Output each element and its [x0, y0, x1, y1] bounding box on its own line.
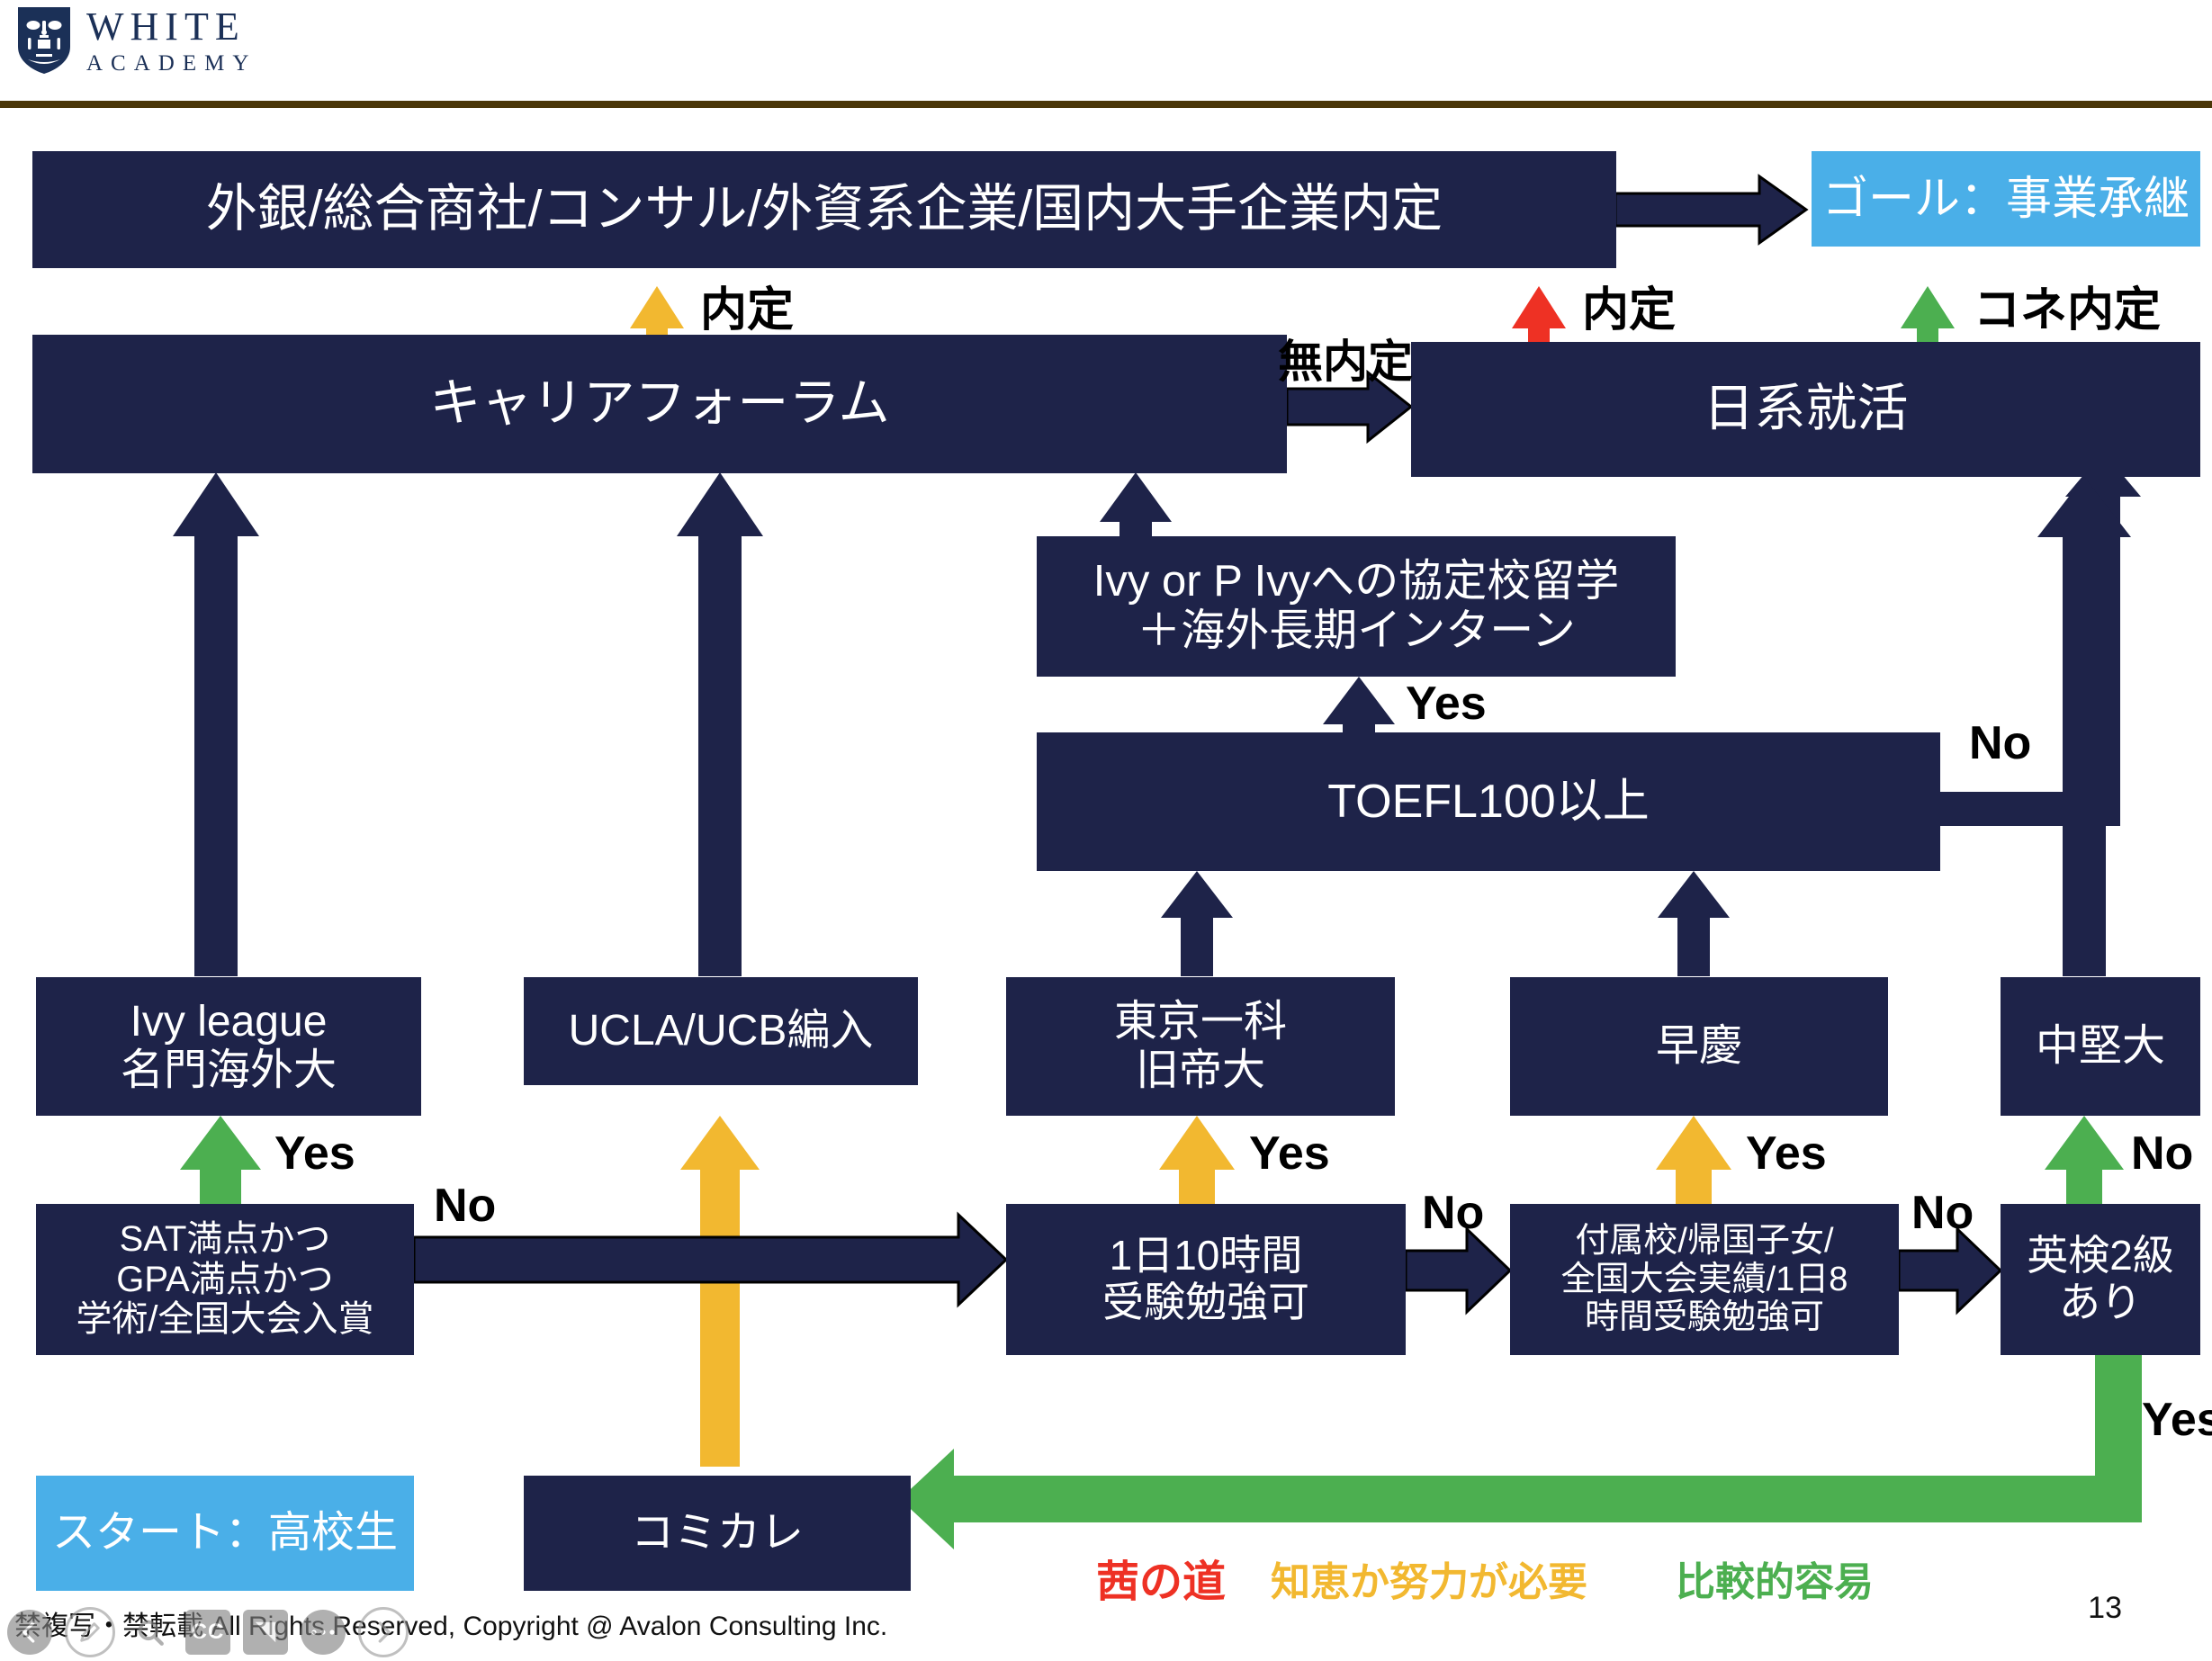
magnifier-icon[interactable] — [128, 1610, 173, 1655]
node-soukei-label: 早慶 — [1650, 1022, 1748, 1071]
node-career-forum[interactable]: キャリアフォーラム — [32, 335, 1287, 473]
node-eiken-label: 英検2級 あり — [2021, 1233, 2180, 1325]
node-sat-label: SAT満点かつ GPA満点かつ 学術/全国大会入賞 — [70, 1219, 379, 1340]
arrow-todai-to-toefl — [1161, 871, 1233, 976]
forward-arrow-icon[interactable] — [358, 1607, 409, 1657]
edge-label-kone-naitei: コネ内定 — [1974, 272, 2161, 339]
node-ucla[interactable]: UCLA/UCB編入 — [524, 977, 918, 1085]
arrow-komikare-to-ucla — [680, 1116, 760, 1467]
edge-label-yes-fuzoku: Yes — [1746, 1127, 1827, 1181]
more-options-icon[interactable] — [301, 1610, 346, 1655]
node-ivy-exchange[interactable]: Ivy or P Ivyへの協定校留学 ＋海外長期インターン — [1037, 536, 1676, 677]
edge-label-yes-eiken: Yes — [2142, 1393, 2212, 1447]
node-komikare[interactable]: コミカレ — [524, 1476, 911, 1591]
edge-label-yes-study10: Yes — [1249, 1127, 1330, 1181]
edge-label-no-fuzoku: No — [1911, 1186, 1974, 1240]
node-career-forum-label: キャリアフォーラム — [424, 375, 895, 433]
node-ivy-exchange-label: Ivy or P Ivyへの協定校留学 ＋海外長期インターン — [1088, 557, 1624, 656]
back-arrow-icon[interactable] — [7, 1610, 52, 1655]
edge-label-no-toefl: No — [1969, 716, 2031, 770]
arrow-nikkei-to-goal — [1901, 286, 1955, 349]
legend-item-easy: 比較的容易 — [1676, 1549, 1874, 1607]
node-offer-top[interactable]: 外銀/総合商社/コンサル/外資系企業/国内大手企業内定 — [32, 151, 1616, 268]
node-sat[interactable]: SAT満点かつ GPA満点かつ 学術/全国大会入賞 — [36, 1204, 414, 1355]
node-todai[interactable]: 東京一科 旧帝大 — [1006, 977, 1395, 1116]
node-toefl[interactable]: TOEFL100以上 — [1037, 732, 1940, 871]
arrow-ivyleague-to-careerforum — [173, 472, 259, 976]
edge-label-naitei-red: 内定 — [1582, 272, 1676, 339]
arrow-ucla-to-careerforum — [677, 472, 763, 976]
arrow-ivyexchange-to-careerforum — [1100, 472, 1172, 540]
node-soukei[interactable]: 早慶 — [1510, 977, 1888, 1116]
arrow-soukei-to-toefl — [1658, 871, 1730, 976]
node-ucla-label: UCLA/UCB編入 — [563, 1007, 879, 1055]
arrow-sat-to-ivyleague — [180, 1116, 261, 1210]
node-chuken-label: 中堅大 — [2030, 1022, 2171, 1071]
edge-label-no-eiken: No — [2131, 1127, 2193, 1181]
node-nikkei-label: 日系就活 — [1698, 381, 1914, 438]
node-study10[interactable]: 1日10時間 受験勉強可 — [1006, 1204, 1406, 1355]
arrow-study10-no-to-fuzoku — [1406, 1229, 1510, 1312]
node-nikkei-shukatsu[interactable]: 日系就活 — [1411, 342, 2200, 477]
node-study10-label: 1日10時間 受験勉強可 — [1097, 1233, 1315, 1325]
node-ivy-league-label: Ivy league 名門海外大 — [115, 998, 342, 1095]
player-controls[interactable]: CC — [7, 1607, 409, 1657]
node-start[interactable]: スタート：高校生 — [36, 1476, 414, 1591]
arrow-fuzoku-to-soukei — [1656, 1116, 1731, 1210]
edge-label-munaitei: 無内定 — [1278, 326, 1413, 391]
node-goal-label: ゴール：事業承継 — [1817, 173, 2195, 224]
node-fuzoku-label: 付属校/帰国子女/ 全国大会実績/1日8 時間受験勉強可 — [1556, 1222, 1854, 1337]
cc-label: CC — [192, 1620, 225, 1645]
pen-icon[interactable] — [65, 1607, 115, 1657]
arrow-eiken-yes-to-komikare — [900, 1350, 2142, 1549]
node-fuzoku[interactable]: 付属校/帰国子女/ 全国大会実績/1日8 時間受験勉強可 — [1510, 1204, 1899, 1355]
page-number: 13 — [2088, 1591, 2122, 1626]
edge-label-no-sat: No — [434, 1179, 496, 1233]
node-komikare-label: コミカレ — [625, 1509, 809, 1558]
node-offer-top-label: 外銀/総合商社/コンサル/外資系企業/国内大手企業内定 — [201, 181, 1448, 238]
node-goal[interactable]: ゴール：事業承継 — [1812, 151, 2200, 247]
arrow-offer-to-goal — [1615, 176, 1806, 243]
legend-item-hard: 茜の道 — [1096, 1546, 1226, 1609]
edge-label-yes-ivy-exchange: Yes — [1406, 677, 1487, 731]
closed-caption-icon[interactable]: CC — [185, 1610, 230, 1655]
edge-label-no-study10: No — [1422, 1186, 1484, 1240]
node-chuken[interactable]: 中堅大 — [2001, 977, 2200, 1116]
present-icon[interactable] — [243, 1610, 288, 1655]
arrow-eiken-to-chuken — [2045, 1116, 2124, 1210]
node-todai-label: 東京一科 旧帝大 — [1109, 998, 1292, 1095]
node-eiken[interactable]: 英検2級 あり — [2001, 1204, 2200, 1355]
node-toefl-label: TOEFL100以上 — [1322, 776, 1654, 828]
edge-label-yes-sat: Yes — [274, 1127, 355, 1181]
node-ivy-league[interactable]: Ivy league 名門海外大 — [36, 977, 421, 1116]
arrow-study10-to-todai — [1159, 1116, 1235, 1210]
arrow-nikkei-to-offer — [1512, 286, 1566, 349]
arrow-fuzoku-no-to-eiken — [1899, 1229, 2001, 1312]
node-start-label: スタート：高校生 — [47, 1509, 403, 1558]
edge-label-naitei-yellow: 内定 — [700, 272, 794, 339]
legend-item-medium: 知恵か努力が必要 — [1271, 1549, 1587, 1607]
